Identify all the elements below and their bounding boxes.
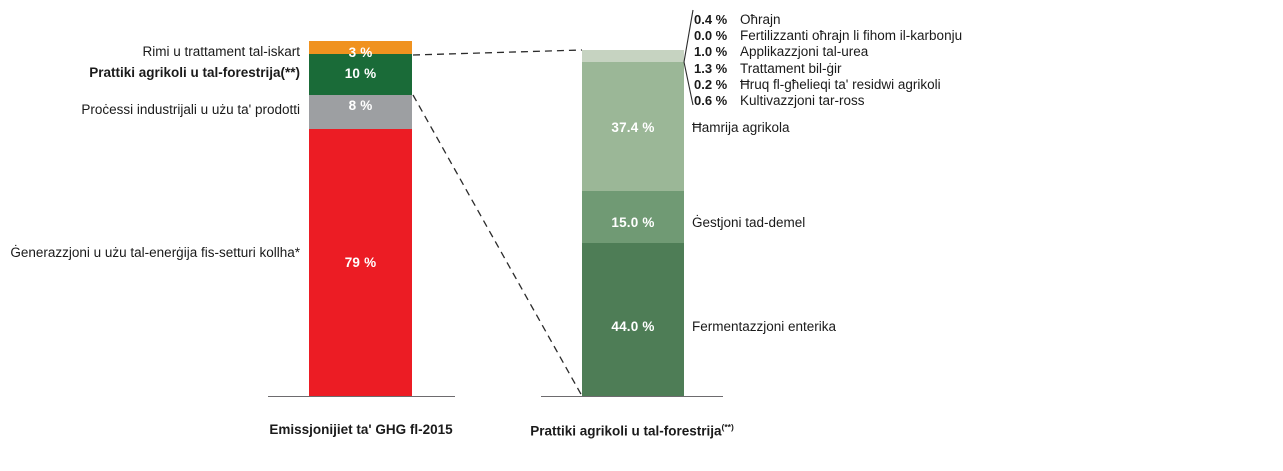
leader-line-upper bbox=[684, 10, 693, 62]
callout-pct: 0.0 % bbox=[694, 29, 740, 42]
chart-canvas: 3 % 10 % 8 % 79 % Rimi u trattament tal-… bbox=[0, 0, 1283, 471]
axis-title-right: Prattiki agrikoli u tal-forestrija(**) bbox=[482, 423, 782, 439]
segment-enteric-fermentation[interactable] bbox=[582, 243, 684, 396]
bar-agriculture-breakdown bbox=[582, 50, 684, 396]
callout-item: 0.0 % Fertilizzanti oħrajn li fihom il-k… bbox=[694, 29, 962, 43]
callout-name: Ħruq fl-għelieqi ta' residwi agrikoli bbox=[740, 78, 941, 92]
axis-line-left bbox=[268, 396, 455, 397]
axis-line-right bbox=[541, 396, 723, 397]
label-agriculture: Prattiki agrikoli u tal-forestrija(**) bbox=[0, 65, 300, 81]
label-energy: Ġenerazzjoni u użu tal-enerġija fis-sett… bbox=[0, 245, 300, 261]
label-industry: Proċessi industrijali u użu ta' prodotti bbox=[0, 102, 300, 118]
label-waste: Rimi u trattament tal-iskart bbox=[0, 44, 300, 60]
callout-name: Trattament bil-ġir bbox=[740, 62, 842, 76]
connector-bottom bbox=[413, 95, 582, 396]
label-agricultural-soils: Ħamrija agrikola bbox=[692, 121, 790, 135]
axis-title-left-text: Emissjonijiet ta' GHG fl-2015 bbox=[269, 422, 452, 437]
label-enteric-fermentation: Fermentazzjoni enterika bbox=[692, 320, 836, 334]
axis-title-right-text: Prattiki agrikoli u tal-forestrija bbox=[530, 424, 721, 439]
segment-minor-group[interactable] bbox=[582, 50, 684, 62]
leader-line-lower bbox=[684, 62, 693, 105]
callout-name: Fertilizzanti oħrajn li fihom il-karbonj… bbox=[740, 29, 962, 43]
callout-pct: 1.0 % bbox=[694, 45, 740, 58]
callout-item: 1.0 % Applikazzjoni tal-urea bbox=[694, 45, 868, 59]
callout-pct: 0.2 % bbox=[694, 78, 740, 91]
label-manure-management: Ġestjoni tad-demel bbox=[692, 216, 805, 230]
segment-agricultural-soils[interactable] bbox=[582, 62, 684, 191]
segment-industry[interactable] bbox=[309, 95, 412, 129]
segment-agriculture[interactable] bbox=[309, 54, 412, 95]
callout-pct: 0.6 % bbox=[694, 94, 740, 107]
segment-energy[interactable] bbox=[309, 129, 412, 396]
callout-pct: 1.3 % bbox=[694, 62, 740, 75]
axis-title-left: Emissjonijiet ta' GHG fl-2015 bbox=[211, 423, 511, 438]
callout-name: Kultivazzjoni tar-ross bbox=[740, 94, 865, 108]
segment-manure-management[interactable] bbox=[582, 191, 684, 243]
callout-item: 0.2 % Ħruq fl-għelieqi ta' residwi agrik… bbox=[694, 78, 941, 92]
callout-name: Oħrajn bbox=[740, 13, 781, 27]
callout-name: Applikazzjoni tal-urea bbox=[740, 45, 868, 59]
connector-top bbox=[413, 50, 582, 55]
segment-waste[interactable] bbox=[309, 41, 412, 54]
callout-item: 1.3 % Trattament bil-ġir bbox=[694, 62, 842, 76]
callout-item: 0.4 % Oħrajn bbox=[694, 13, 781, 27]
bar-ghg-emissions bbox=[309, 41, 412, 396]
callout-item: 0.6 % Kultivazzjoni tar-ross bbox=[694, 94, 865, 108]
axis-title-right-sup: (**) bbox=[722, 422, 734, 432]
callout-pct: 0.4 % bbox=[694, 13, 740, 26]
